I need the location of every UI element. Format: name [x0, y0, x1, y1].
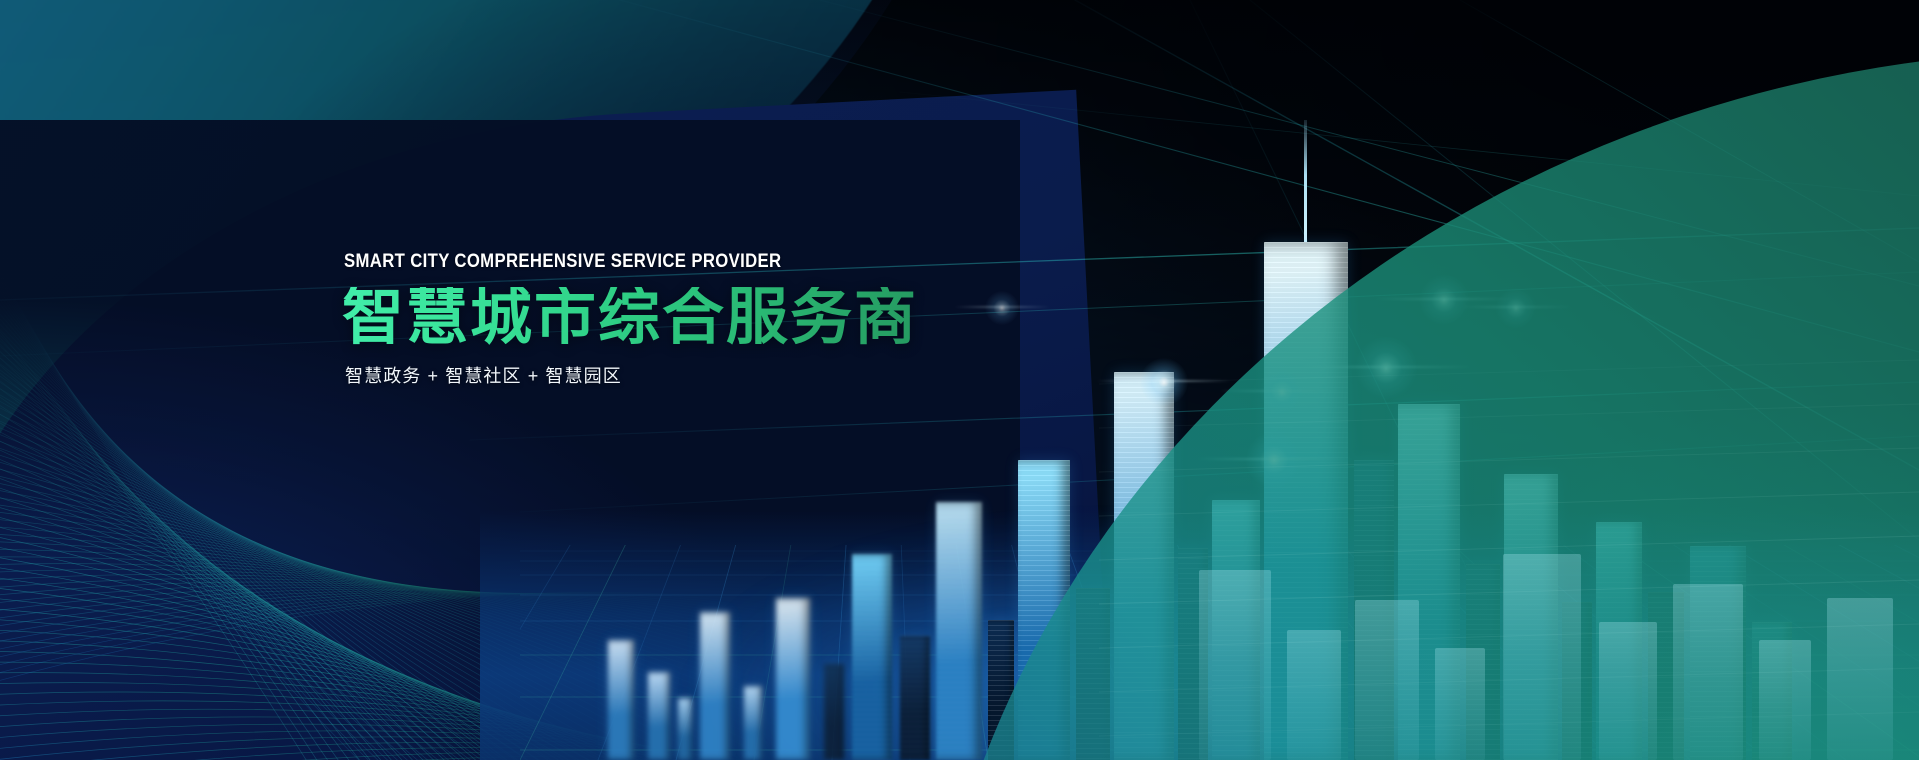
building-tower-h [852, 554, 892, 760]
page-title: 智慧城市综合服务商 [342, 287, 918, 349]
building-slab-a [608, 640, 634, 760]
building-tower-i [900, 636, 930, 760]
building-floor-bands [936, 502, 982, 760]
headline-copy-block: SMART CITY COMPREHENSIVE SERVICE PROVIDE… [342, 252, 918, 385]
green-hline-0 [1099, 360, 1919, 384]
building-slab-f [776, 598, 810, 760]
building-floor-bands [648, 672, 670, 760]
green-hline-1 [1099, 404, 1919, 428]
building-floor-bands [776, 598, 810, 760]
lens-flare-6 [985, 291, 1019, 325]
building-slab-d [700, 612, 730, 760]
green-hline-7 [1099, 668, 1919, 692]
building-slab-b [648, 672, 670, 760]
green-hline-6 [1099, 624, 1919, 648]
building-floor-bands [744, 686, 762, 760]
building-slab-g [824, 664, 844, 760]
green-hline-5 [1099, 580, 1919, 604]
green-hline-8 [1099, 712, 1919, 736]
building-tower-j [936, 502, 982, 760]
green-swoosh-hlines [1099, 330, 1919, 760]
green-hline-2 [1099, 448, 1919, 472]
building-floor-bands [678, 698, 692, 760]
building-floor-bands [608, 640, 634, 760]
tower-spire [1304, 120, 1307, 242]
subtitle-text: 智慧政务 + 智慧社区 + 智慧园区 [345, 367, 918, 385]
smart-city-banner: SMART CITY COMPREHENSIVE SERVICE PROVIDE… [0, 0, 1919, 760]
building-slab-e [744, 686, 762, 760]
green-hline-3 [1099, 492, 1919, 516]
building-slab-c [678, 698, 692, 760]
building-floor-bands [900, 636, 930, 760]
building-floor-bands [852, 554, 892, 760]
building-floor-bands [700, 612, 730, 760]
lens-flare-streak-6 [954, 306, 1049, 308]
green-hline-4 [1099, 536, 1919, 560]
eyebrow-text: SMART CITY COMPREHENSIVE SERVICE PROVIDE… [344, 252, 849, 271]
building-floor-bands [824, 664, 844, 760]
